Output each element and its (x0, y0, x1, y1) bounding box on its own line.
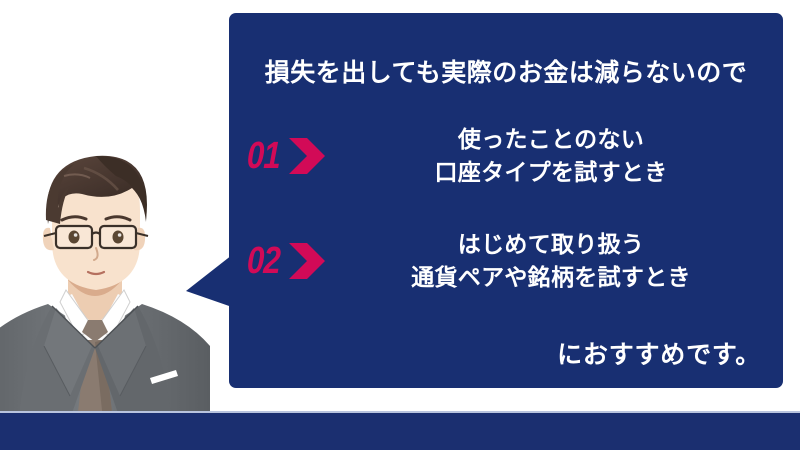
item-text-01: 使ったことのない 口座タイプを試すとき (343, 123, 793, 188)
chevron-right-icon (289, 136, 325, 176)
headline-text: 損失を出しても実際のお金は減らないので (229, 58, 783, 88)
item-text-02: はじめて取り扱う 通貨ペアや銘柄を試すとき (343, 228, 793, 293)
item-badge-02: 02 (239, 241, 343, 281)
businessman-illustration (0, 150, 210, 430)
slide-canvas: 損失を出しても実際のお金は減らないので 01 使ったことのない 口座タイプを試す… (0, 0, 800, 450)
chevron-right-icon (289, 241, 325, 281)
closing-text: におすすめです。 (557, 335, 761, 371)
item-text-line: 口座タイプを試すとき (343, 156, 759, 189)
item-badge-01: 01 (239, 136, 343, 176)
item-number-label: 01 (246, 137, 280, 175)
item-text-line: 通貨ペアや銘柄を試すとき (343, 261, 759, 294)
card-content: 損失を出しても実際のお金は減らないので 01 使ったことのない 口座タイプを試す… (229, 13, 783, 388)
item-text-line: はじめて取り扱う (343, 228, 759, 261)
list-item: 01 使ったことのない 口座タイプを試すとき (239, 123, 793, 188)
item-number-label: 02 (246, 242, 280, 280)
list-item: 02 はじめて取り扱う 通貨ペアや銘柄を試すとき (239, 228, 793, 293)
bottom-bar (0, 413, 800, 450)
item-text-line: 使ったことのない (343, 123, 759, 156)
speech-bubble-card: 損失を出しても実際のお金は減らないので 01 使ったことのない 口座タイプを試す… (229, 13, 783, 388)
